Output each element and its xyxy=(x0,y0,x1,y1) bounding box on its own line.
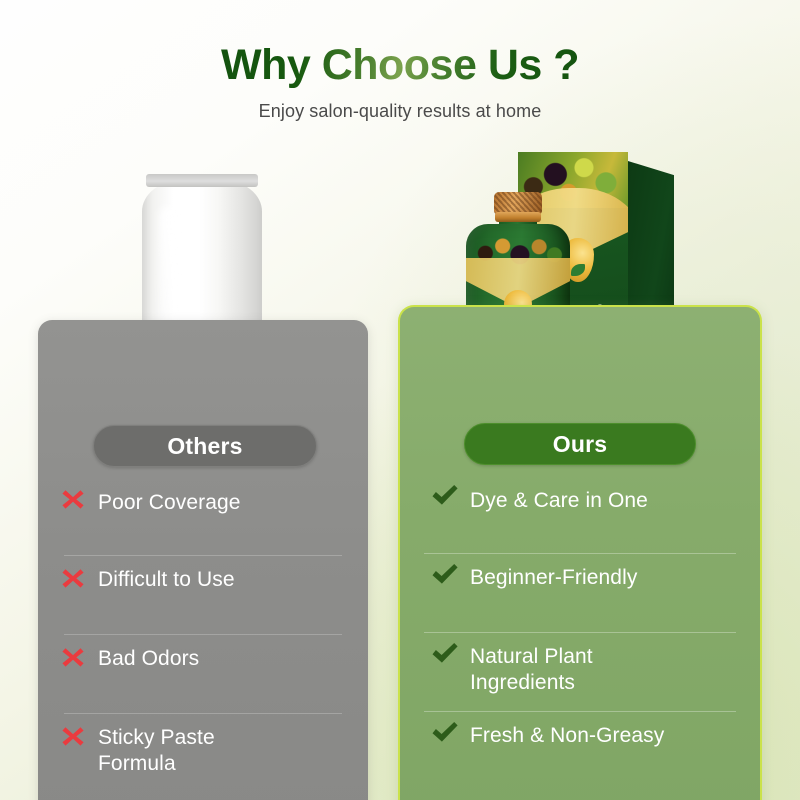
infographic-canvas: Why Choose Us ? Enjoy salon-quality resu… xyxy=(0,0,800,800)
list-item: Dye & Care in One xyxy=(398,484,762,544)
list-item: Fresh & Non-Greasy xyxy=(398,721,762,781)
list-divider xyxy=(64,555,342,556)
list-item: Bad Odors xyxy=(38,644,368,704)
list-item-label: Dye & Care in One xyxy=(470,486,658,514)
bottle-gold-collar xyxy=(495,212,541,222)
list-item-label: Difficult to Use xyxy=(98,565,245,593)
cross-icon xyxy=(60,486,86,512)
page-title: Why Choose Us ? xyxy=(221,42,579,89)
list-divider xyxy=(64,713,342,714)
check-icon xyxy=(430,719,460,747)
tube-crimp-seal xyxy=(146,174,258,187)
list-item-label: Bad Odors xyxy=(98,644,209,672)
list-item-label: Natural Plant Ingredients xyxy=(470,642,648,695)
ours-badge: Ours xyxy=(464,423,696,465)
others-feature-list: Poor Coverage Difficult to Use Bad Odors xyxy=(38,486,368,783)
list-item: Poor Coverage xyxy=(38,486,368,546)
cross-icon xyxy=(60,644,86,670)
list-item: Beginner-Friendly xyxy=(398,563,762,623)
page-subtitle: Enjoy salon-quality results at home xyxy=(0,101,800,122)
header: Why Choose Us ? Enjoy salon-quality resu… xyxy=(0,42,800,122)
list-item-label: Beginner-Friendly xyxy=(470,563,647,591)
check-icon xyxy=(430,561,460,589)
bottle-cork-stopper-icon xyxy=(494,192,542,214)
list-item: Difficult to Use xyxy=(38,565,368,625)
check-icon xyxy=(430,482,460,510)
cross-icon xyxy=(60,565,86,591)
list-item-label: Sticky Paste Formula xyxy=(98,723,273,776)
check-icon xyxy=(430,640,460,668)
list-divider xyxy=(424,632,736,633)
others-badge: Others xyxy=(93,425,317,467)
list-divider xyxy=(64,634,342,635)
ours-feature-list: Dye & Care in One Beginner-Friendly Natu… xyxy=(398,484,762,781)
list-item: Natural Plant Ingredients xyxy=(398,642,762,702)
list-item: Sticky Paste Formula xyxy=(38,723,368,783)
list-divider xyxy=(424,711,736,712)
list-divider xyxy=(424,553,736,554)
list-item-label: Fresh & Non-Greasy xyxy=(470,721,674,749)
cross-icon xyxy=(60,723,86,749)
list-item-label: Poor Coverage xyxy=(98,488,251,516)
